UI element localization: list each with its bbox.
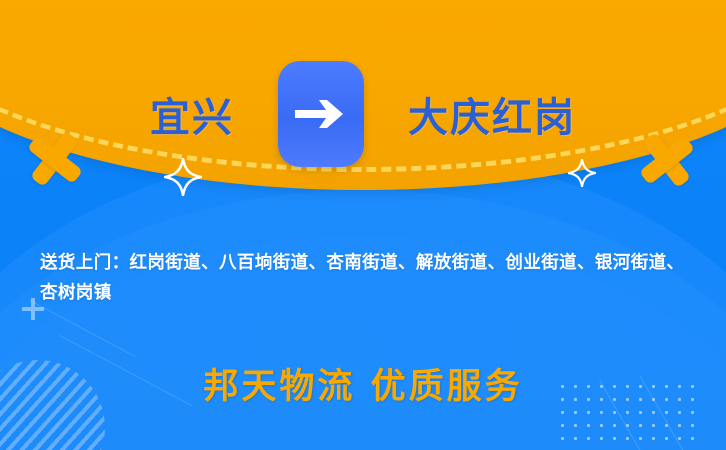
x-mark-left — [28, 132, 84, 188]
arrow-right-icon — [293, 94, 349, 134]
origin-city-label: 宜兴 — [150, 85, 234, 143]
company-slogan: 邦天物流 优质服务 — [0, 358, 726, 409]
x-mark-right — [640, 133, 696, 189]
sparkle-left — [164, 158, 202, 201]
logistics-route-banner: 宜兴 大庆红岗 送货上门：红岗街道 — [0, 0, 726, 450]
sparkle-right — [568, 159, 596, 192]
destination-city-label: 大庆红岗 — [408, 85, 576, 143]
route-arrow-button[interactable] — [278, 61, 364, 167]
route-header: 宜兴 大庆红岗 — [0, 58, 726, 170]
delivery-areas-text: 送货上门：红岗街道、八百垧街道、杏南街道、解放街道、创业街道、银河街道、杏树岗镇 — [40, 248, 694, 308]
